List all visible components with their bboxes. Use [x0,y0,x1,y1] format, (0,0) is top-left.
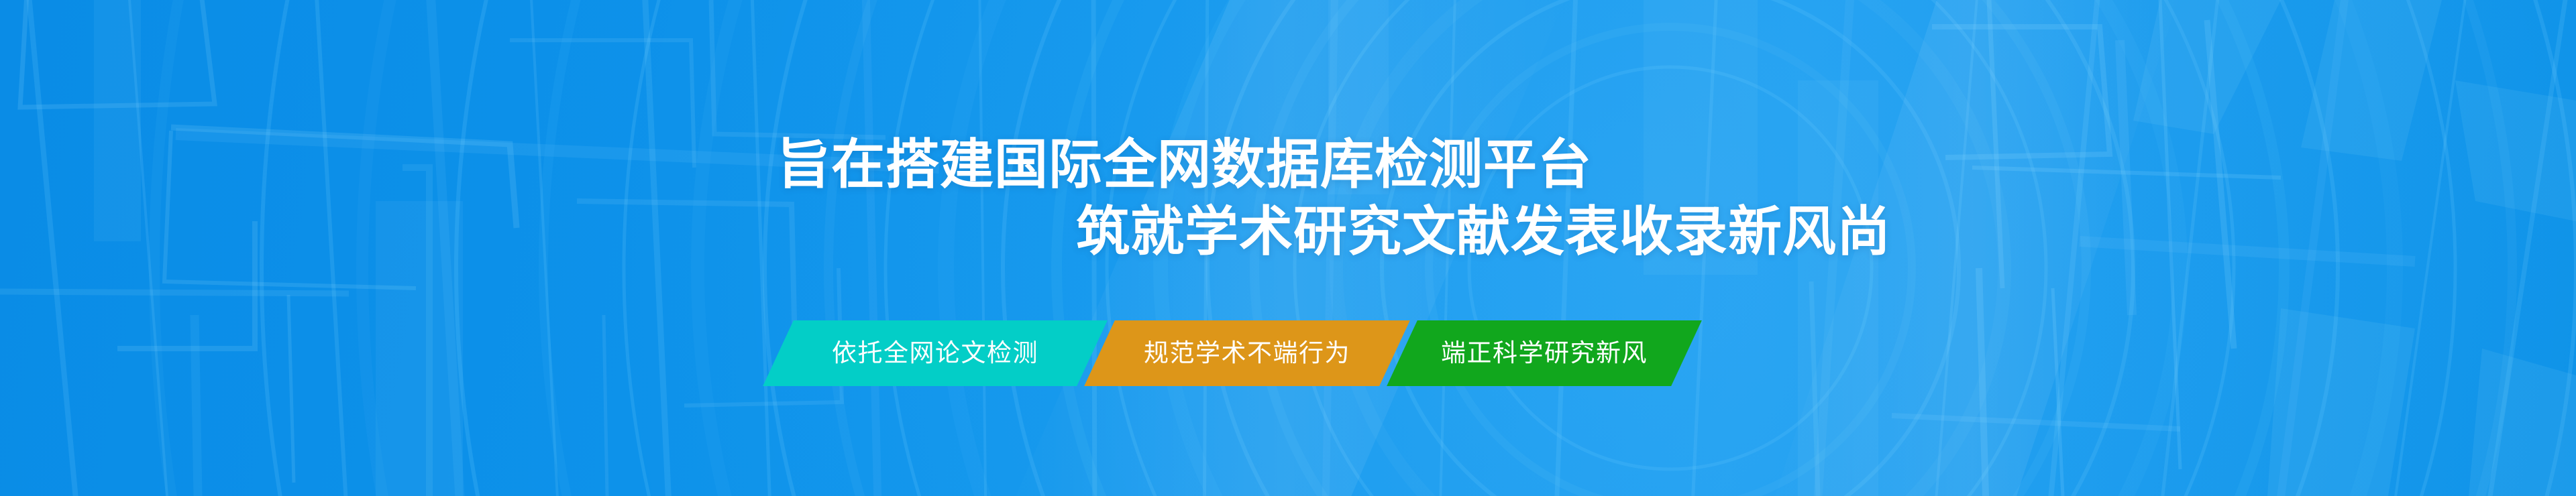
feature-badge-paper-detection[interactable]: 依托全网论文检测 [763,320,1108,386]
headline-line-2: 筑就学术研究文献发表收录新风尚 [1076,198,2576,265]
headline-line-1: 旨在搭建国际全网数据库检测平台 [777,131,2576,198]
feature-badge-research-ethos[interactable]: 端正科学研究新风 [1387,320,1702,386]
headline-block: 旨在搭建国际全网数据库检测平台 筑就学术研究文献发表收录新风尚 [0,131,2576,265]
feature-badge-label: 端正科学研究新风 [1441,320,1648,386]
feature-badge-label: 规范学术不端行为 [1144,320,1350,386]
feature-badge-label: 依托全网论文检测 [832,320,1038,386]
feature-badge-misconduct-regulation[interactable]: 规范学术不端行为 [1084,320,1410,386]
feature-badge-strip: 依托全网论文检测 规范学术不端行为 端正科学研究新风 [778,320,1686,386]
promo-banner: 旨在搭建国际全网数据库检测平台 筑就学术研究文献发表收录新风尚 依托全网论文检测… [0,0,2576,496]
